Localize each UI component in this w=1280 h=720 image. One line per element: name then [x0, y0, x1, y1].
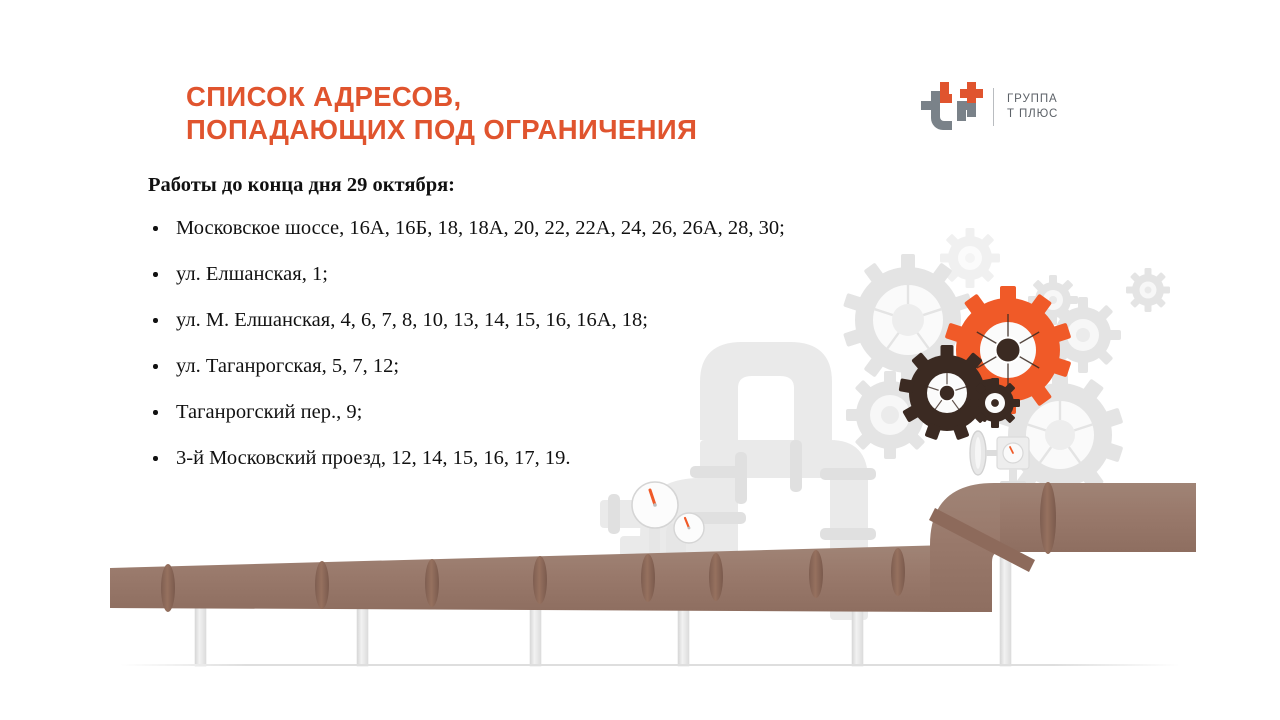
page-title: СПИСОК АДРЕСОВ, ПОПАДАЮЩИХ ПОД ОГРАНИЧЕН…: [186, 80, 826, 146]
pipe-flange-ring-upper: [1040, 482, 1056, 554]
logo-text-line-1: ГРУППА: [1007, 92, 1058, 107]
t-plus-logo-mark-icon: [915, 81, 987, 133]
address-text: Московское шоссе, 16А, 16Б, 18, 18А, 20,…: [176, 217, 785, 239]
gear-dark-small: [970, 378, 1020, 428]
list-item: Московское шоссе, 16А, 16Б, 18, 18А, 20,…: [148, 216, 948, 241]
list-item: ул. М. Елшанская, 4, 6, 7, 8, 10, 13, 14…: [148, 308, 948, 333]
content-body: Работы до конца дня 29 октября: Московск…: [148, 172, 948, 492]
bullet-icon: [153, 364, 158, 369]
gauge-box: [997, 437, 1029, 486]
bullet-icon: [153, 456, 158, 461]
address-text: ул. М. Елшанская, 4, 6, 7, 8, 10, 13, 14…: [176, 309, 648, 331]
gear-orange: [945, 286, 1072, 414]
company-logo: ГРУППА Т ПЛЮС: [915, 78, 1075, 136]
page-title-line-2: ПОПАДАЮЩИХ ПОД ОГРАНИЧЕНИЯ: [186, 113, 826, 146]
list-item: 3-й Московский проезд, 12, 14, 15, 16, 1…: [148, 446, 948, 471]
slide-canvas: СПИСОК АДРЕСОВ, ПОПАДАЮЩИХ ПОД ОГРАНИЧЕН…: [0, 0, 1280, 720]
pipe-bend-flange: [929, 508, 1035, 572]
address-text: ул. Елшанская, 1;: [176, 263, 328, 285]
pipe-flange-rings: [161, 548, 905, 612]
gauge-shadow: [624, 563, 712, 569]
bullet-icon: [153, 226, 158, 231]
address-text: 3-й Московский проезд, 12, 14, 15, 16, 1…: [176, 447, 570, 469]
list-item: ул. Таганрогская, 5, 7, 12;: [148, 354, 948, 379]
bullet-icon: [153, 410, 158, 415]
works-deadline-heading: Работы до конца дня 29 октября:: [148, 172, 948, 198]
ground-line: [120, 664, 1180, 666]
logo-text: ГРУППА Т ПЛЮС: [1007, 92, 1058, 122]
logo-divider: [993, 88, 994, 126]
list-item: ул. Елшанская, 1;: [148, 262, 948, 287]
bullet-icon: [153, 272, 158, 277]
list-item: Таганрогский пер., 9;: [148, 400, 948, 425]
bullet-icon: [153, 318, 158, 323]
pressure-gauge-small-stem: [666, 523, 686, 565]
pressure-gauge-small: [674, 513, 704, 543]
pressure-gauge-large-stem: [649, 516, 660, 565]
logo-text-line-2: Т ПЛЮС: [1007, 107, 1058, 122]
address-text: ул. Таганрогская, 5, 7, 12;: [176, 355, 399, 377]
brown-pipeline: [110, 482, 1196, 612]
valve-wheel: [970, 431, 998, 475]
address-text: Таганрогский пер., 9;: [176, 401, 362, 423]
page-title-line-1: СПИСОК АДРЕСОВ,: [186, 80, 826, 113]
address-list: Московское шоссе, 16А, 16Б, 18, 18А, 20,…: [148, 216, 948, 471]
pipe-supports: [178, 520, 1028, 666]
